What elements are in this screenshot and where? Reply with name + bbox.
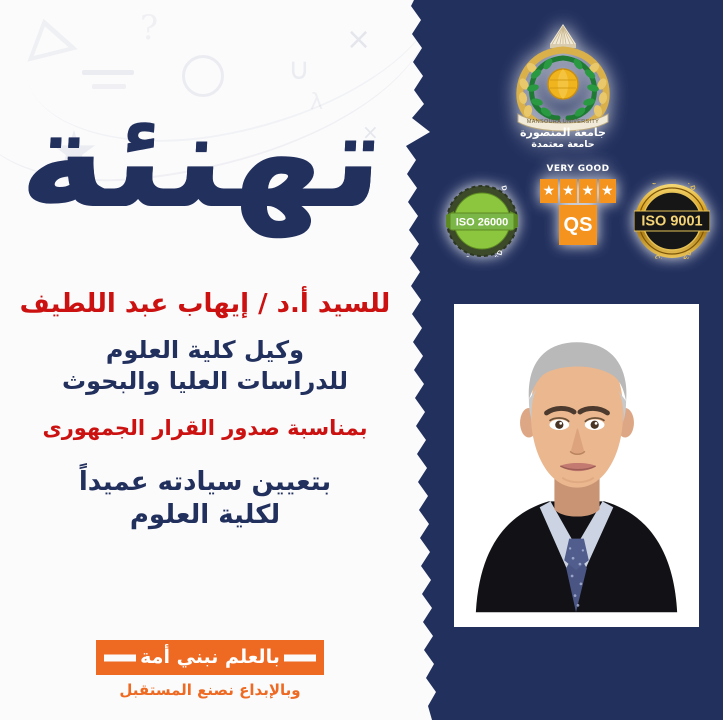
decree-line2: لكلية العلوم [0, 499, 410, 532]
slogan-ribbon: بالعلم نبني أمة [96, 640, 324, 675]
qs-star-1: ★ [540, 179, 558, 203]
slogan-block: بالعلم نبني أمة وبالإبداع نصنع المستقبل [0, 640, 420, 699]
qs-star-4: ★ [599, 179, 617, 203]
logo-accreditation-arabic: جامعة معتمدة [531, 139, 594, 148]
poster-title: تهنئة [0, 40, 405, 280]
iso-9001-badge: CERTIFIED CERTIFIED ISO 9001 [634, 183, 710, 259]
iso-9001-label: ISO 9001 [641, 214, 702, 230]
qs-star-2: ★ [560, 179, 578, 203]
portrait-illustration [468, 318, 685, 613]
qs-star-3: ★ [579, 179, 597, 203]
recipient-name: للسيد أ.د / إيهاب عبد اللطيف [0, 288, 410, 321]
portrait-frame [452, 302, 701, 629]
qs-star-row: ★ ★ ★ ★ [540, 179, 616, 203]
recipient-role-line1: وكيل كلية العلوم [0, 335, 410, 366]
qs-rating-label: VERY GOOD [540, 164, 616, 174]
recipient-role-line2: للدراسات العليا والبحوث [0, 366, 410, 397]
qs-mark: QS [559, 205, 597, 245]
occasion-text: بمناسبة صدور القرار الجمهورى [0, 415, 410, 442]
qs-stars-badge: VERY GOOD ★ ★ ★ ★ QS [540, 165, 616, 265]
congratulation-poster: ? × ∪ λ × تهنئة للسيد أ.د / إيهاب عبد ال… [0, 0, 723, 720]
title-calligraphy: تهنئة [17, 94, 388, 226]
iso-26000-label: ISO 26000 [456, 217, 509, 229]
logo-university-arabic: جامعة المنصورة [520, 126, 606, 139]
mansoura-university-logo: MANSOURA UNIVERSITY جامعة المنصورة جامعة… [504, 18, 622, 148]
slogan-subtitle: وبالإبداع نصنع المستقبل [0, 681, 420, 699]
message-block: للسيد أ.د / إيهاب عبد اللطيف وكيل كلية ا… [0, 288, 410, 532]
logo-ribbon-text: MANSOURA UNIVERSITY [527, 119, 599, 125]
iso-26000-badge: CERTIFIED CERTIFIED ISO 26000 [446, 185, 518, 257]
portrait-photo [468, 318, 685, 613]
certification-badges: CERTIFIED CERTIFIED ISO 26000 VERY GOOD … [440, 165, 710, 265]
decree-line1: بتعيين سيادته عميداً [0, 466, 410, 499]
